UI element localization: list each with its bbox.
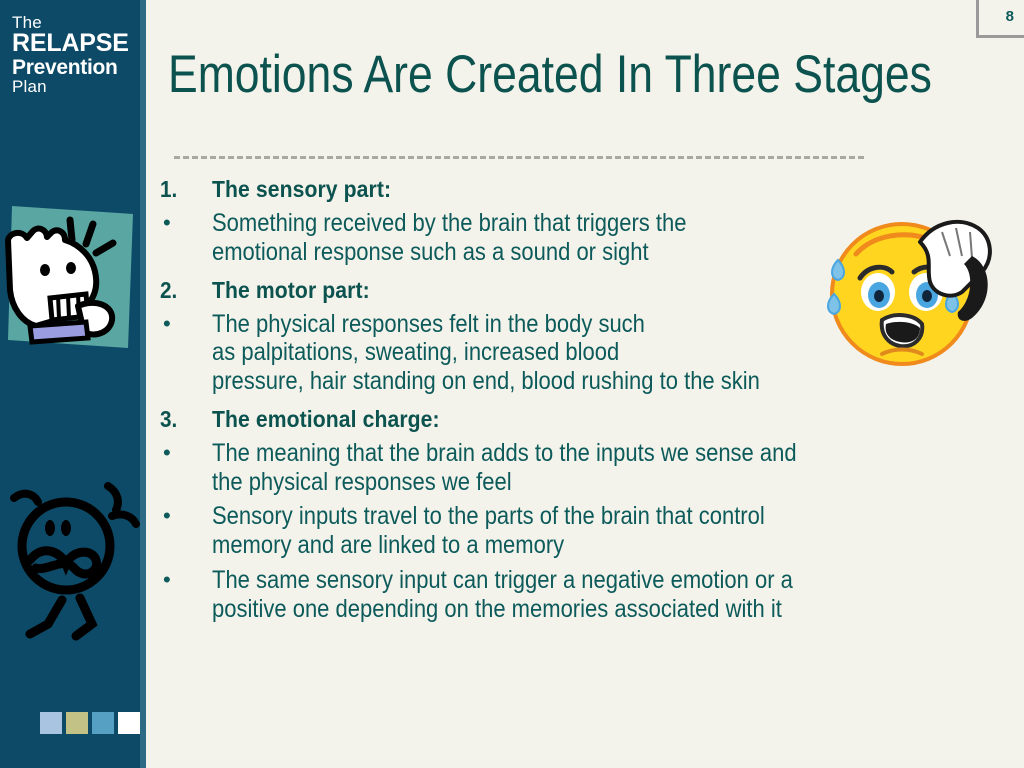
list-item-bullet-2-1: • The physical responses felt in the bod… — [160, 310, 1000, 396]
list-item-bullet-3-2: • Sensory inputs travel to the parts of … — [160, 502, 1000, 560]
page-number-box — [976, 0, 1024, 38]
bullet-text-2-1: The physical responses felt in the body … — [212, 310, 760, 396]
logo-line-relapse: RELAPSE — [12, 31, 136, 57]
list-heading-3: The emotional charge: — [212, 406, 440, 433]
list-number-2: 2. — [160, 277, 207, 304]
list-item-bullet-3-1: • The meaning that the brain adds to the… — [160, 439, 1000, 497]
page-number: 8 — [1006, 8, 1014, 25]
bullet-text-1-1: Something received by the brain that tri… — [212, 209, 686, 267]
bullet-text-3-1: The meaning that the brain adds to the i… — [212, 439, 797, 497]
logo-line-plan: Plan — [12, 78, 136, 95]
bullet-glyph: • — [160, 209, 212, 237]
color-swatch-row — [40, 712, 140, 734]
list-item-heading-3: 3. The emotional charge: — [160, 406, 1000, 433]
swatch-blue — [92, 712, 114, 734]
bullet-glyph: • — [160, 310, 212, 338]
swatch-white — [118, 712, 140, 734]
list-item-heading-1: 1. The sensory part: — [160, 176, 1000, 203]
slide-canvas: The RELAPSE Prevention Plan — [0, 0, 1024, 768]
list-item-bullet-3-3: • The same sensory input can trigger a n… — [160, 566, 1000, 624]
swatch-light-blue — [40, 712, 62, 734]
sidebar — [0, 0, 140, 768]
list-number-3: 3. — [160, 406, 207, 433]
bullet-glyph: • — [160, 566, 212, 594]
swatch-khaki — [66, 712, 88, 734]
shocked-character-illustration — [0, 198, 140, 363]
list-number-1: 1. — [160, 176, 207, 203]
content-body: 1. The sensory part: • Something receive… — [160, 176, 1000, 623]
sweating-doodle-illustration — [0, 468, 140, 643]
page-title: Emotions Are Created In Three Stages — [168, 44, 865, 105]
bullet-text-3-3: The same sensory input can trigger a neg… — [212, 566, 793, 624]
list-item-bullet-1-1: • Something received by the brain that t… — [160, 209, 1000, 267]
brand-logo: The RELAPSE Prevention Plan — [12, 14, 136, 96]
title-divider — [174, 156, 864, 159]
logo-line-prevention: Prevention — [12, 57, 136, 78]
list-heading-1: The sensory part: — [212, 176, 391, 203]
bullet-glyph: • — [160, 439, 212, 467]
bullet-text-3-2: Sensory inputs travel to the parts of th… — [212, 502, 765, 560]
sidebar-edge-strip — [140, 0, 146, 768]
bullet-glyph: • — [160, 502, 212, 530]
list-heading-2: The motor part: — [212, 277, 370, 304]
list-item-heading-2: 2. The motor part: — [160, 277, 1000, 304]
